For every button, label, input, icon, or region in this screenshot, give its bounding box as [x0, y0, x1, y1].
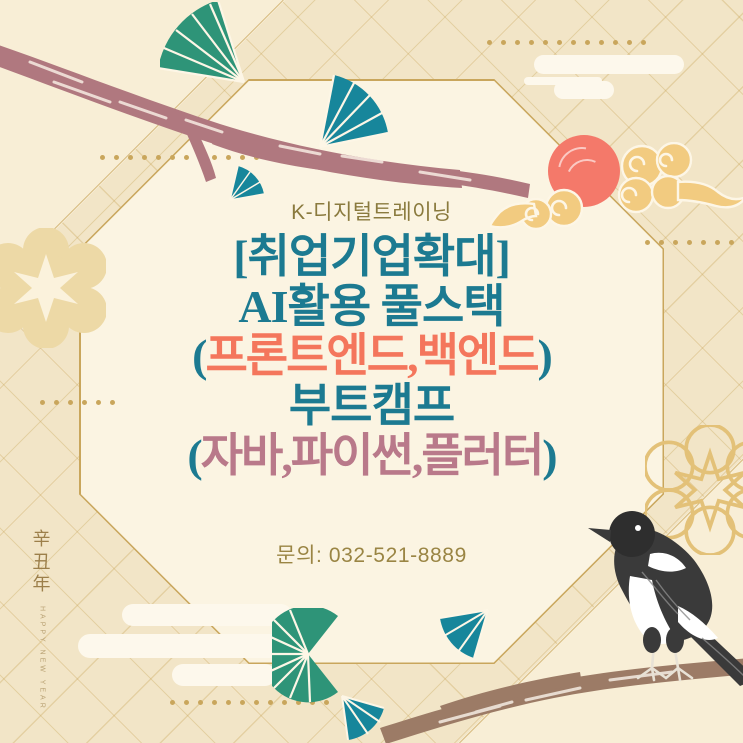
fan-bottom-b-icon — [330, 690, 394, 743]
dotline-mid-left — [40, 400, 115, 405]
fan-mid-left-icon — [224, 166, 270, 211]
fan-bottom-c-icon — [432, 604, 502, 671]
side-stamp-latin: HAPPY NEW YEAR — [39, 606, 46, 711]
white-cloud-bottom-left-a-icon — [122, 604, 292, 628]
side-stamp-cjk-char-1: 辛 — [22, 528, 62, 551]
side-stamp-cjk: 辛 丑 年 — [22, 528, 62, 596]
white-cloud-bottom-left-c-icon — [172, 664, 276, 688]
flower-left-filled-icon — [0, 228, 106, 353]
side-stamp: 辛 丑 年 HAPPY NEW YEAR — [22, 528, 62, 715]
plum-branch-top-left-icon — [0, 20, 550, 245]
dotline-right — [645, 240, 734, 245]
side-stamp-cjk-char-3: 年 — [22, 573, 62, 596]
white-cloud-bottom-left-b-icon — [78, 634, 304, 660]
gold-swirl-cloud-right-icon — [608, 142, 743, 227]
fan-top-b-icon — [300, 55, 390, 156]
poster-canvas: K-디지털트레이닝 [취업기업확대] AI활용 풀스택 (프론트엔드,백엔드) … — [0, 0, 743, 743]
fan-top-a-icon — [160, 2, 260, 103]
magpie-bird-icon — [582, 498, 743, 693]
side-stamp-cjk-char-2: 丑 — [22, 551, 62, 574]
